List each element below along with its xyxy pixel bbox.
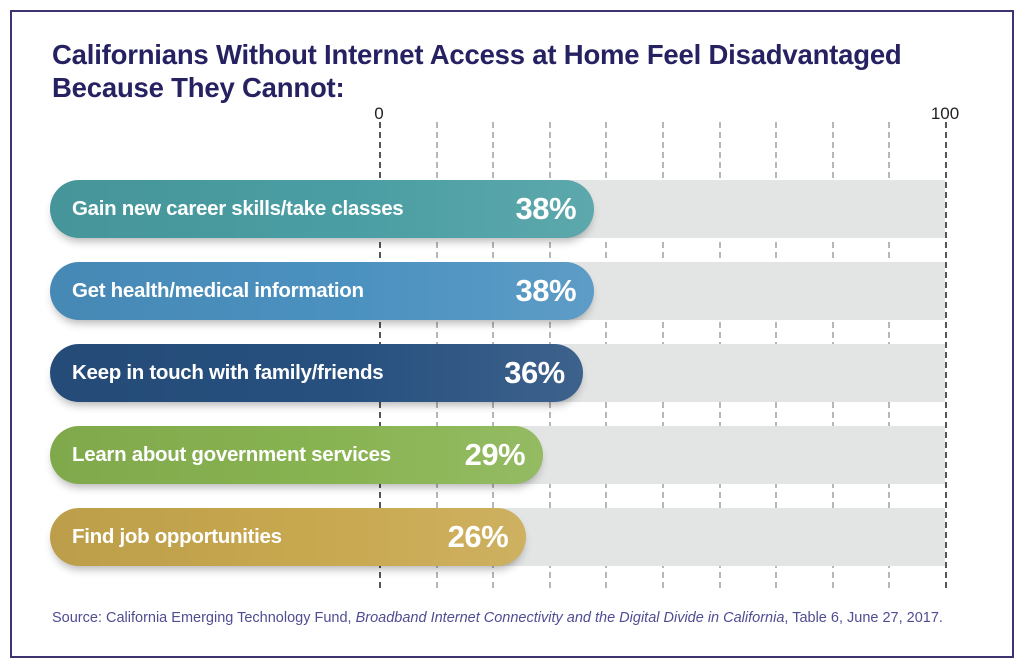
bar-category-label: Gain new career skills/take classes xyxy=(72,197,403,221)
bar-row: Find job opportunities26% xyxy=(0,508,1024,566)
bar-value-label: 38% xyxy=(516,273,577,309)
bar-row: Get health/medical information38% xyxy=(0,262,1024,320)
source-note: Source: California Emerging Technology F… xyxy=(52,610,992,626)
infographic-figure: Californians Without Internet Access at … xyxy=(0,0,1024,668)
source-publication-title: Broadband Internet Connectivity and the … xyxy=(356,610,785,626)
bar-category-label: Keep in touch with family/friends xyxy=(72,361,383,385)
bar-category-label: Learn about government services xyxy=(72,443,391,467)
bar[interactable]: Get health/medical information38% xyxy=(50,262,594,320)
bar-row: Learn about government services29% xyxy=(0,426,1024,484)
bar[interactable]: Find job opportunities26% xyxy=(50,508,526,566)
axis-tick-label-100: 100 xyxy=(931,104,959,124)
axis-tick-label-0: 0 xyxy=(374,104,383,124)
source-prefix: Source: California Emerging Technology F… xyxy=(52,610,356,626)
bar[interactable]: Gain new career skills/take classes38% xyxy=(50,180,594,238)
bar-value-label: 29% xyxy=(465,437,526,473)
source-suffix: , Table 6, June 27, 2017. xyxy=(784,610,943,626)
bar-category-label: Find job opportunities xyxy=(72,525,282,549)
bar[interactable]: Learn about government services29% xyxy=(50,426,543,484)
bar-row: Keep in touch with family/friends36% xyxy=(0,344,1024,402)
bar-value-label: 26% xyxy=(448,519,509,555)
bar-category-label: Get health/medical information xyxy=(72,279,364,303)
bar[interactable]: Keep in touch with family/friends36% xyxy=(50,344,583,402)
bar-value-label: 38% xyxy=(516,191,577,227)
bar-value-label: 36% xyxy=(504,355,565,391)
bar-row: Gain new career skills/take classes38% xyxy=(0,180,1024,238)
chart-plot-area: 0100Gain new career skills/take classes3… xyxy=(0,0,1024,668)
